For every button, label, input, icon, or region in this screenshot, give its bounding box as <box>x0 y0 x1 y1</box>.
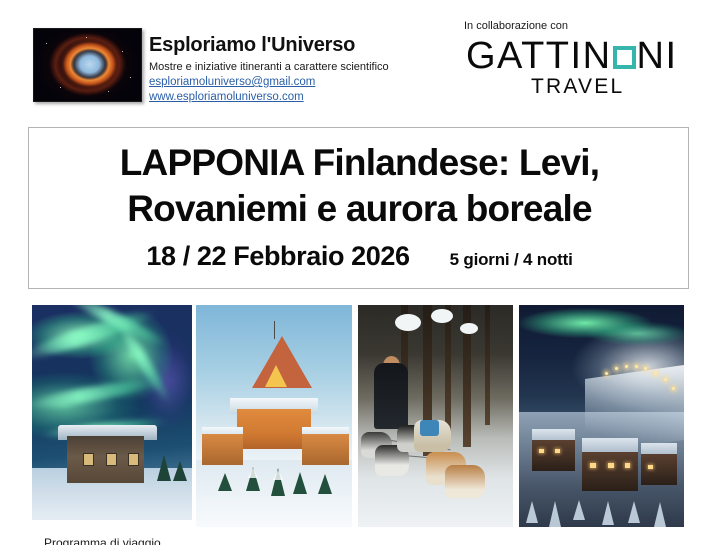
slope-light <box>615 367 618 370</box>
side-building <box>302 434 349 465</box>
page-header: Esploriamo l'Universo Mostre e iniziativ… <box>0 0 715 118</box>
gattinoni-text-part1: GATTIN <box>466 35 612 77</box>
husky-dog <box>445 465 485 498</box>
pine-tree <box>157 455 171 481</box>
snowy-tree <box>654 502 666 527</box>
trip-dates: 18 / 22 Febbraio 2026 <box>146 241 409 271</box>
cabin-window <box>106 453 117 466</box>
husky-sled-photo <box>358 305 513 527</box>
lit-window <box>590 463 596 468</box>
gattinoni-logo: GATTINNI TRAVEL <box>466 36 666 102</box>
lit-window <box>625 463 630 468</box>
pine-tree <box>293 472 307 494</box>
tree-trunk <box>485 305 490 425</box>
organizer-email-link[interactable]: esploriamoluniverso@gmail.com <box>149 76 315 88</box>
collaboration-label: In collaborazione con <box>464 20 568 32</box>
snowy-tree <box>628 501 640 523</box>
dog-harness <box>420 420 439 436</box>
pine-tree <box>218 473 232 491</box>
pine-tree <box>173 461 187 481</box>
roof-light-glow <box>265 365 287 387</box>
snowy-tree <box>549 501 561 527</box>
pine-tree <box>318 474 332 494</box>
footer-clipped-text: Programma di viaggio <box>44 536 344 545</box>
gattinoni-subwordmark: TRAVEL <box>531 75 624 99</box>
trip-title-line-1: LAPPONIA Finlandese: Levi, <box>29 143 690 183</box>
star-speck <box>60 87 61 88</box>
gattinoni-square-o-icon <box>613 46 636 69</box>
slope-light <box>635 365 638 368</box>
lit-window <box>555 449 560 453</box>
levi-resort-night-photo <box>519 305 684 527</box>
tree-snow-cap <box>273 470 283 480</box>
cabin-window <box>128 453 139 466</box>
nebula-logo-icon <box>33 28 142 102</box>
snow-on-branch <box>460 323 478 334</box>
chalet-building <box>641 454 677 485</box>
cabin-window <box>83 453 94 466</box>
trip-title-box: LAPPONIA Finlandese: Levi, Rovaniemi e a… <box>28 127 689 289</box>
snowy-tree <box>526 501 538 523</box>
gattinoni-wordmark: GATTINNI <box>466 36 678 76</box>
lit-window <box>608 463 614 468</box>
star-speck <box>130 77 131 78</box>
chalet-building <box>532 440 575 471</box>
tree-trunk <box>445 305 451 434</box>
trip-title-line-2: Rovaniemi e aurora boreale <box>29 189 690 229</box>
lit-window <box>648 465 653 469</box>
snow-on-branch <box>395 314 421 331</box>
star-speck <box>86 37 87 38</box>
tree-snow-cap <box>248 468 258 478</box>
star-speck <box>46 43 47 44</box>
footer-text: Programma di viaggio <box>44 536 344 545</box>
slope-light <box>654 372 657 375</box>
snowy-tree <box>573 500 585 520</box>
organizer-name: Esploriamo l'Universo <box>149 34 355 57</box>
organizer-tagline: Mostre e iniziative itineranti a caratte… <box>149 61 389 73</box>
aurora-borealis-cabin-photo <box>32 305 192 520</box>
organizer-website-link[interactable]: www.esploriamoluniverso.com <box>149 91 304 103</box>
snowy-tree <box>602 501 614 525</box>
trip-date-row: 18 / 22 Febbraio 20265 giorni / 4 notti <box>29 241 690 272</box>
side-building <box>202 434 243 465</box>
gattinoni-text-part2: NI <box>637 35 678 77</box>
chalet-building <box>582 452 638 492</box>
star-speck <box>122 51 123 52</box>
lit-window <box>539 449 544 453</box>
main-lodge-building <box>237 409 312 449</box>
musher-figure <box>374 363 408 430</box>
santa-claus-village-photo <box>196 305 352 527</box>
nebula-image <box>34 29 141 101</box>
slope-light <box>625 365 628 368</box>
slope-light <box>605 372 608 375</box>
trip-duration: 5 giorni / 4 notti <box>450 250 573 269</box>
star-speck <box>108 91 109 92</box>
